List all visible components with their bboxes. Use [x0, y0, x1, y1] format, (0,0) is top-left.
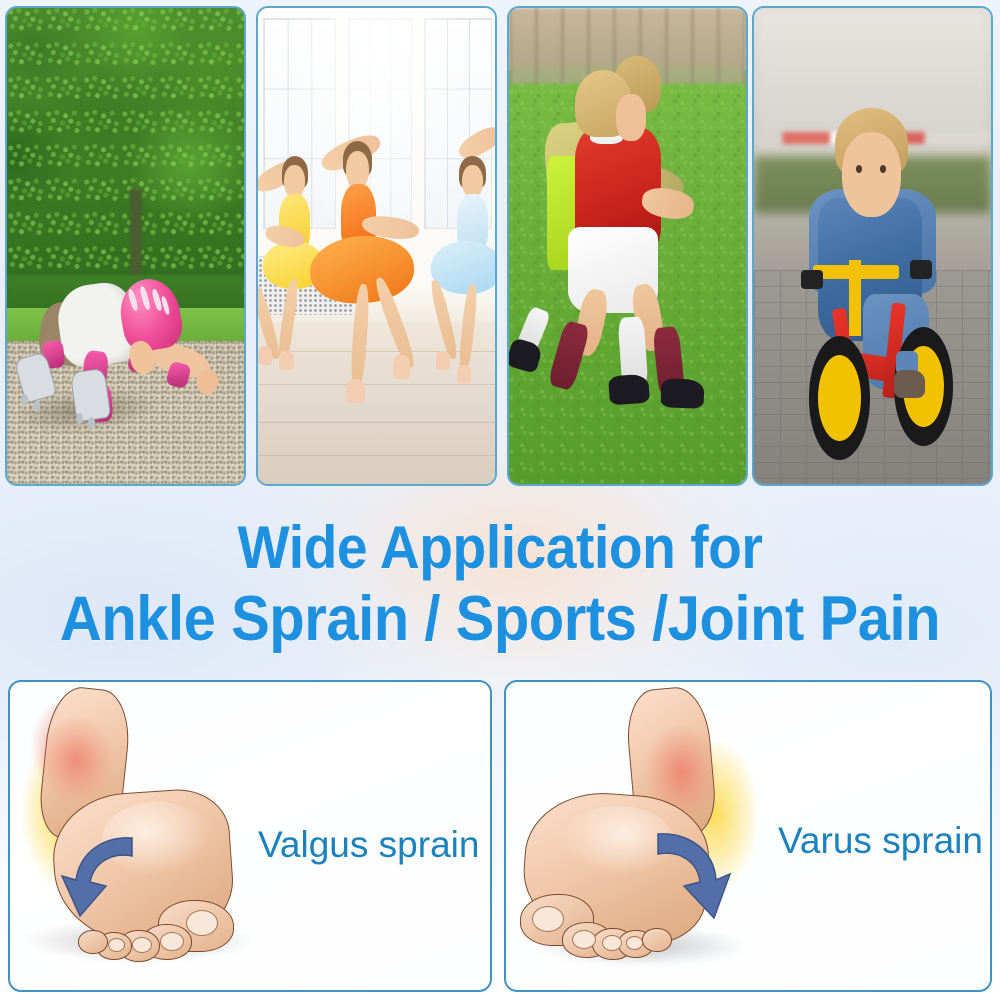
photo-balance-bike [752, 6, 993, 486]
rotation-arrow-icon [632, 826, 752, 946]
photo-soccer [507, 6, 748, 486]
photo-strip [0, 0, 1000, 492]
photo-ballet [256, 6, 497, 486]
valgus-label: Valgus sprain [258, 824, 479, 866]
card-varus: Varus sprain [504, 680, 992, 992]
varus-label: Varus sprain [778, 820, 983, 862]
infographic-root: Wide Application for Ankle Sprain / Spor… [0, 0, 1000, 1000]
headline-line-1: Wide Application for [40, 516, 960, 580]
rotation-arrow-icon [54, 830, 174, 950]
headline: Wide Application for Ankle Sprain / Spor… [0, 516, 1000, 652]
photo-rollerblading [5, 6, 246, 486]
card-valgus: Valgus sprain [8, 680, 492, 992]
headline-line-2: Ankle Sprain / Sports /Joint Pain [40, 586, 960, 653]
